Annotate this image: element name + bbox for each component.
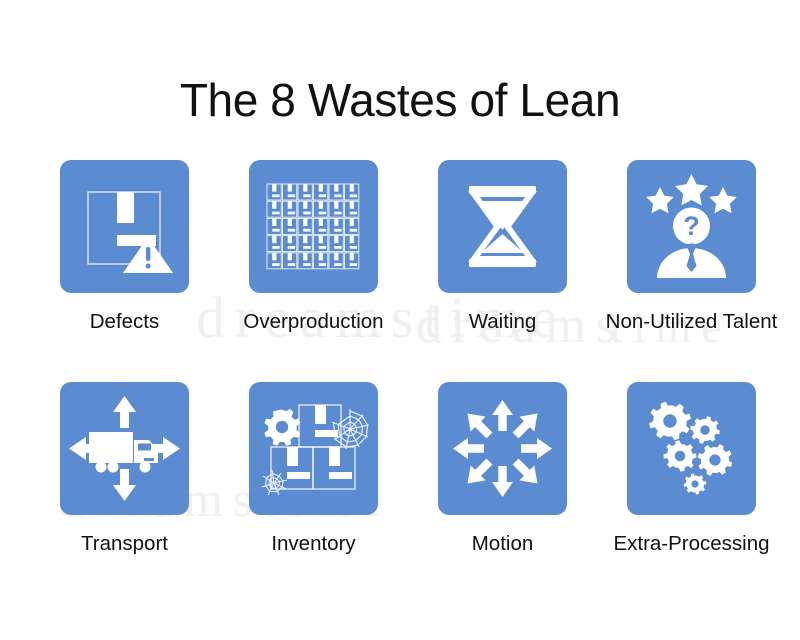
eight-radiating-arrows-icon xyxy=(438,382,567,515)
waste-icon-tile-motion xyxy=(438,382,567,515)
poster-canvas: dreamstime dreams time dreamstime The 8 … xyxy=(0,0,800,640)
page-title: The 8 Wastes of Lean xyxy=(0,75,800,126)
waste-icon-tile-non-utilized-talent: ? xyxy=(627,160,756,293)
waste-label-waiting: Waiting xyxy=(469,309,537,335)
waste-label-defects: Defects xyxy=(90,309,160,335)
five-gears-icon xyxy=(627,382,756,515)
waste-card-motion[interactable]: Motion xyxy=(408,382,597,597)
waste-card-inventory[interactable]: Inventory xyxy=(219,382,408,597)
waste-label-overproduction: Overproduction xyxy=(243,309,383,335)
waste-card-waiting[interactable]: Waiting xyxy=(408,160,597,382)
box-with-warning-triangle-icon xyxy=(60,160,189,293)
waste-label-motion: Motion xyxy=(472,531,534,557)
waste-card-overproduction[interactable]: Overproduction xyxy=(219,160,408,382)
waste-card-transport[interactable]: Transport xyxy=(30,382,219,597)
truck-four-arrows-icon xyxy=(60,382,189,515)
waste-icon-tile-defects xyxy=(60,160,189,293)
waste-icon-tile-inventory xyxy=(249,382,378,515)
grid-of-boxes-icon xyxy=(249,160,378,293)
waste-label-extra-processing: Extra-Processing xyxy=(613,531,769,557)
waste-label-inventory: Inventory xyxy=(271,531,355,557)
waste-label-non-utilized-talent: Non-Utilized Talent xyxy=(606,309,778,335)
svg-text:?: ? xyxy=(683,211,700,241)
waste-icon-tile-transport xyxy=(60,382,189,515)
person-question-stars-icon: ? xyxy=(627,160,756,293)
waste-card-non-utilized-talent[interactable]: ? Non-Utilized Talent xyxy=(597,160,786,382)
hourglass-icon xyxy=(438,160,567,293)
waste-label-transport: Transport xyxy=(81,531,168,557)
waste-icon-tile-overproduction xyxy=(249,160,378,293)
waste-card-defects[interactable]: Defects xyxy=(30,160,219,382)
waste-icon-tile-waiting xyxy=(438,160,567,293)
waste-card-extra-processing[interactable]: Extra-Processing xyxy=(597,382,786,597)
wastes-grid: Defects Overproduction Wai xyxy=(30,160,786,597)
stacked-boxes-gear-cobweb-icon xyxy=(249,382,378,515)
waste-icon-tile-extra-processing xyxy=(627,382,756,515)
